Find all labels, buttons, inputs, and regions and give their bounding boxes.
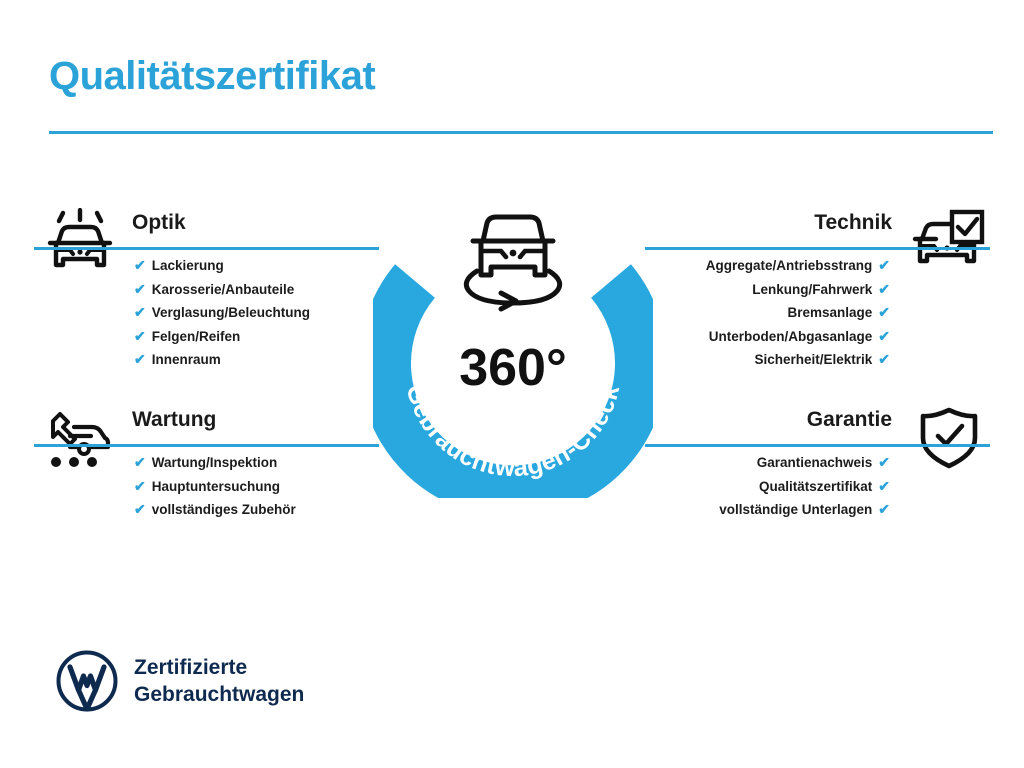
list-item: Lenkung/Fahrwerk✔ [645, 278, 892, 302]
list-item-label: Unterboden/Abgasanlage [709, 329, 873, 344]
list-item: Unterboden/Abgasanlage✔ [645, 325, 892, 349]
list-item: ✔vollständiges Zubehör [34, 498, 379, 522]
check-icon: ✔ [134, 501, 146, 517]
section-technik: Technik Aggregate/Antriebsstrang✔ Lenkun… [645, 208, 990, 372]
list-item: Garantienachweis✔ [645, 451, 892, 475]
badge-360-gebrauchtwagen-check: Gebrauchtwagen-Check 360° [373, 193, 653, 498]
section-divider-optik [34, 247, 379, 250]
section-title-garantie: Garantie [645, 405, 892, 435]
vw-logo-icon [56, 650, 118, 712]
check-icon: ✔ [878, 257, 890, 273]
check-icon: ✔ [134, 454, 146, 470]
list-item: Qualitätszertifikat✔ [645, 475, 892, 499]
list-item: Aggregate/Antriebsstrang✔ [645, 254, 892, 278]
check-icon: ✔ [878, 454, 890, 470]
check-icon: ✔ [878, 351, 890, 367]
check-icon: ✔ [878, 478, 890, 494]
list-item: Sicherheit/Elektrik✔ [645, 348, 892, 372]
check-icon: ✔ [878, 328, 890, 344]
vw-brand-line1: Zertifizierte [134, 654, 304, 681]
list-item-label: Verglasung/Beleuchtung [152, 305, 310, 320]
list-item-label: Bremsanlage [787, 305, 872, 320]
list-item-label: Karosserie/Anbauteile [152, 282, 295, 297]
badge-center-label: 360° [459, 339, 567, 397]
list-item-label: Aggregate/Antriebsstrang [706, 258, 873, 273]
section-divider-garantie [645, 444, 990, 447]
list-item: ✔Innenraum [34, 348, 379, 372]
section-optik: Optik ✔Lackierung ✔Karosserie/Anbauteile… [34, 208, 379, 372]
check-icon: ✔ [878, 501, 890, 517]
list-item: vollständige Unterlagen✔ [645, 498, 892, 522]
list-item-label: Felgen/Reifen [152, 329, 241, 344]
section-divider-wartung [34, 444, 379, 447]
title-divider [49, 131, 993, 134]
car-rotate-icon [466, 217, 559, 309]
section-title-technik: Technik [645, 208, 892, 238]
check-icon: ✔ [878, 304, 890, 320]
list-item-label: Qualitätszertifikat [759, 479, 872, 494]
list-item-label: Hauptuntersuchung [152, 479, 280, 494]
check-icon: ✔ [134, 304, 146, 320]
check-icon: ✔ [878, 281, 890, 297]
section-title-optik: Optik [132, 208, 379, 238]
list-item: ✔Hauptuntersuchung [34, 475, 379, 499]
list-item: Bremsanlage✔ [645, 301, 892, 325]
checklist-garantie: Garantienachweis✔ Qualitätszertifikat✔ v… [645, 451, 892, 522]
vw-brand-lockup: Zertifizierte Gebrauchtwagen [56, 650, 304, 712]
list-item-label: Lackierung [152, 258, 224, 273]
list-item: ✔Karosserie/Anbauteile [34, 278, 379, 302]
vw-brand-line2: Gebrauchtwagen [134, 681, 304, 708]
list-item-label: vollständige Unterlagen [719, 502, 872, 517]
page-title: Qualitätszertifikat [49, 54, 375, 98]
vw-brand-text: Zertifizierte Gebrauchtwagen [134, 654, 304, 708]
check-icon: ✔ [134, 257, 146, 273]
checklist-technik: Aggregate/Antriebsstrang✔ Lenkung/Fahrwe… [645, 254, 892, 372]
list-item-label: Innenraum [152, 352, 221, 367]
check-icon: ✔ [134, 478, 146, 494]
section-wartung: Wartung ✔Wartung/Inspektion ✔Hauptunters… [34, 405, 379, 522]
list-item-label: Garantienachweis [757, 455, 873, 470]
section-title-wartung: Wartung [132, 405, 379, 435]
list-item-label: vollständiges Zubehör [152, 502, 296, 517]
list-item-label: Sicherheit/Elektrik [754, 352, 872, 367]
section-divider-technik [645, 247, 990, 250]
list-item: ✔Verglasung/Beleuchtung [34, 301, 379, 325]
check-icon: ✔ [134, 351, 146, 367]
check-icon: ✔ [134, 328, 146, 344]
list-item-label: Wartung/Inspektion [152, 455, 278, 470]
check-icon: ✔ [134, 281, 146, 297]
list-item-label: Lenkung/Fahrwerk [752, 282, 872, 297]
list-item: ✔Felgen/Reifen [34, 325, 379, 349]
section-garantie: Garantie Garantienachweis✔ Qualitätszert… [645, 405, 990, 522]
